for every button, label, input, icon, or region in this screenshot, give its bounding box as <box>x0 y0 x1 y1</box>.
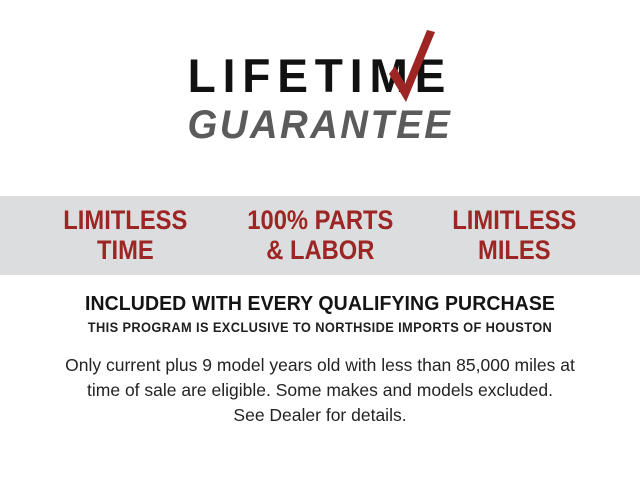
copy-block: INCLUDED WITH EVERY QUALIFYING PURCHASE … <box>0 292 640 428</box>
feature-column-limitless-time: LIMITLESS TIME <box>40 206 211 264</box>
fineprint: Only current plus 9 model years old with… <box>40 353 600 428</box>
feature-column-limitless-miles: LIMITLESS MILES <box>429 206 600 264</box>
logo-wordmark: LIFETIME GUARANTEE <box>182 52 458 145</box>
fineprint-line: See Dealer for details. <box>40 403 600 428</box>
logo-primary-text: LIFETIME <box>185 52 455 99</box>
fineprint-line: Only current plus 9 model years old with… <box>40 353 600 378</box>
promo-graphic: LIFETIME GUARANTEE LIMITLESS TIME 100% P… <box>0 0 640 480</box>
headline: INCLUDED WITH EVERY QUALIFYING PURCHASE <box>16 292 624 316</box>
subheadline: THIS PROGRAM IS EXCLUSIVE TO NORTHSIDE I… <box>16 320 624 335</box>
feature-line-2: MILES <box>429 236 600 265</box>
feature-line-1: LIMITLESS <box>40 206 211 235</box>
feature-line-2: & LABOR <box>234 236 405 265</box>
feature-column-parts-labor: 100% PARTS & LABOR <box>234 206 405 264</box>
logo-secondary-text: GUARANTEE <box>188 105 453 145</box>
feature-line-1: LIMITLESS <box>429 206 600 235</box>
feature-band: LIMITLESS TIME 100% PARTS & LABOR LIMITL… <box>0 196 640 275</box>
feature-line-2: TIME <box>40 236 211 265</box>
lifetime-guarantee-logo: LIFETIME GUARANTEE <box>0 52 640 145</box>
feature-line-1: 100% PARTS <box>234 206 405 235</box>
fineprint-line: time of sale are eligible. Some makes an… <box>40 378 600 403</box>
